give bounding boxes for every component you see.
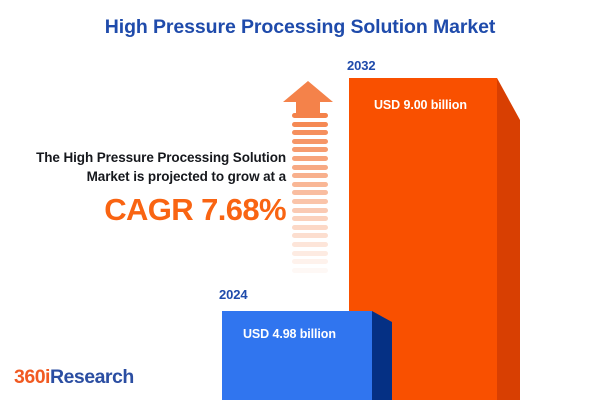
logo-research-text: Research [50,366,134,388]
brand-logo: 360iResearch [14,366,134,389]
year-label-2024: 2024 [219,287,248,302]
arrow-shaft-segment [292,251,328,256]
arrow-shaft-segment [292,199,328,204]
cagr-value: CAGR 7.68% [14,193,286,227]
infographic-canvas: High Pressure Processing Solution Market… [0,0,600,400]
growth-statement-text: The High Pressure Processing Solution Ma… [14,148,286,186]
bar-2032-side-face [497,78,520,400]
arrow-shaft-segment [292,216,328,221]
bar-2024-value-label: USD 4.98 billion [243,327,336,341]
arrow-shaft-segment [292,173,328,178]
bar-2024-side-face [372,311,392,400]
bar-2024 [222,311,372,400]
arrow-shaft-segment [292,225,328,230]
arrow-shaft [292,113,328,295]
year-label-2032: 2032 [347,58,376,73]
arrow-shaft-segment [292,268,328,273]
arrow-shaft-segment [292,259,328,264]
arrow-shaft-segment [292,233,328,238]
arrow-shaft-segment [292,276,328,281]
bar-2024-front-face [222,311,372,400]
arrow-shaft-segment [292,113,328,118]
arrow-shaft-segment [292,165,328,170]
logo-360i-text: 360i [14,366,50,388]
arrow-shaft-segment [292,182,328,187]
arrow-shaft-segment [292,147,328,152]
arrow-shaft-segment [292,208,328,213]
growth-arrow-icon [282,80,334,295]
arrow-shaft-segment [292,156,328,161]
arrow-shaft-segment [292,139,328,144]
page-title: High Pressure Processing Solution Market [0,16,600,39]
arrow-shaft-segment [292,130,328,135]
arrow-shaft-segment [292,122,328,127]
statement-block: The High Pressure Processing Solution Ma… [14,148,286,227]
arrow-shaft-segment [292,242,328,247]
arrow-shaft-segment [292,190,328,195]
bar-2032-value-label: USD 9.00 billion [374,98,467,112]
